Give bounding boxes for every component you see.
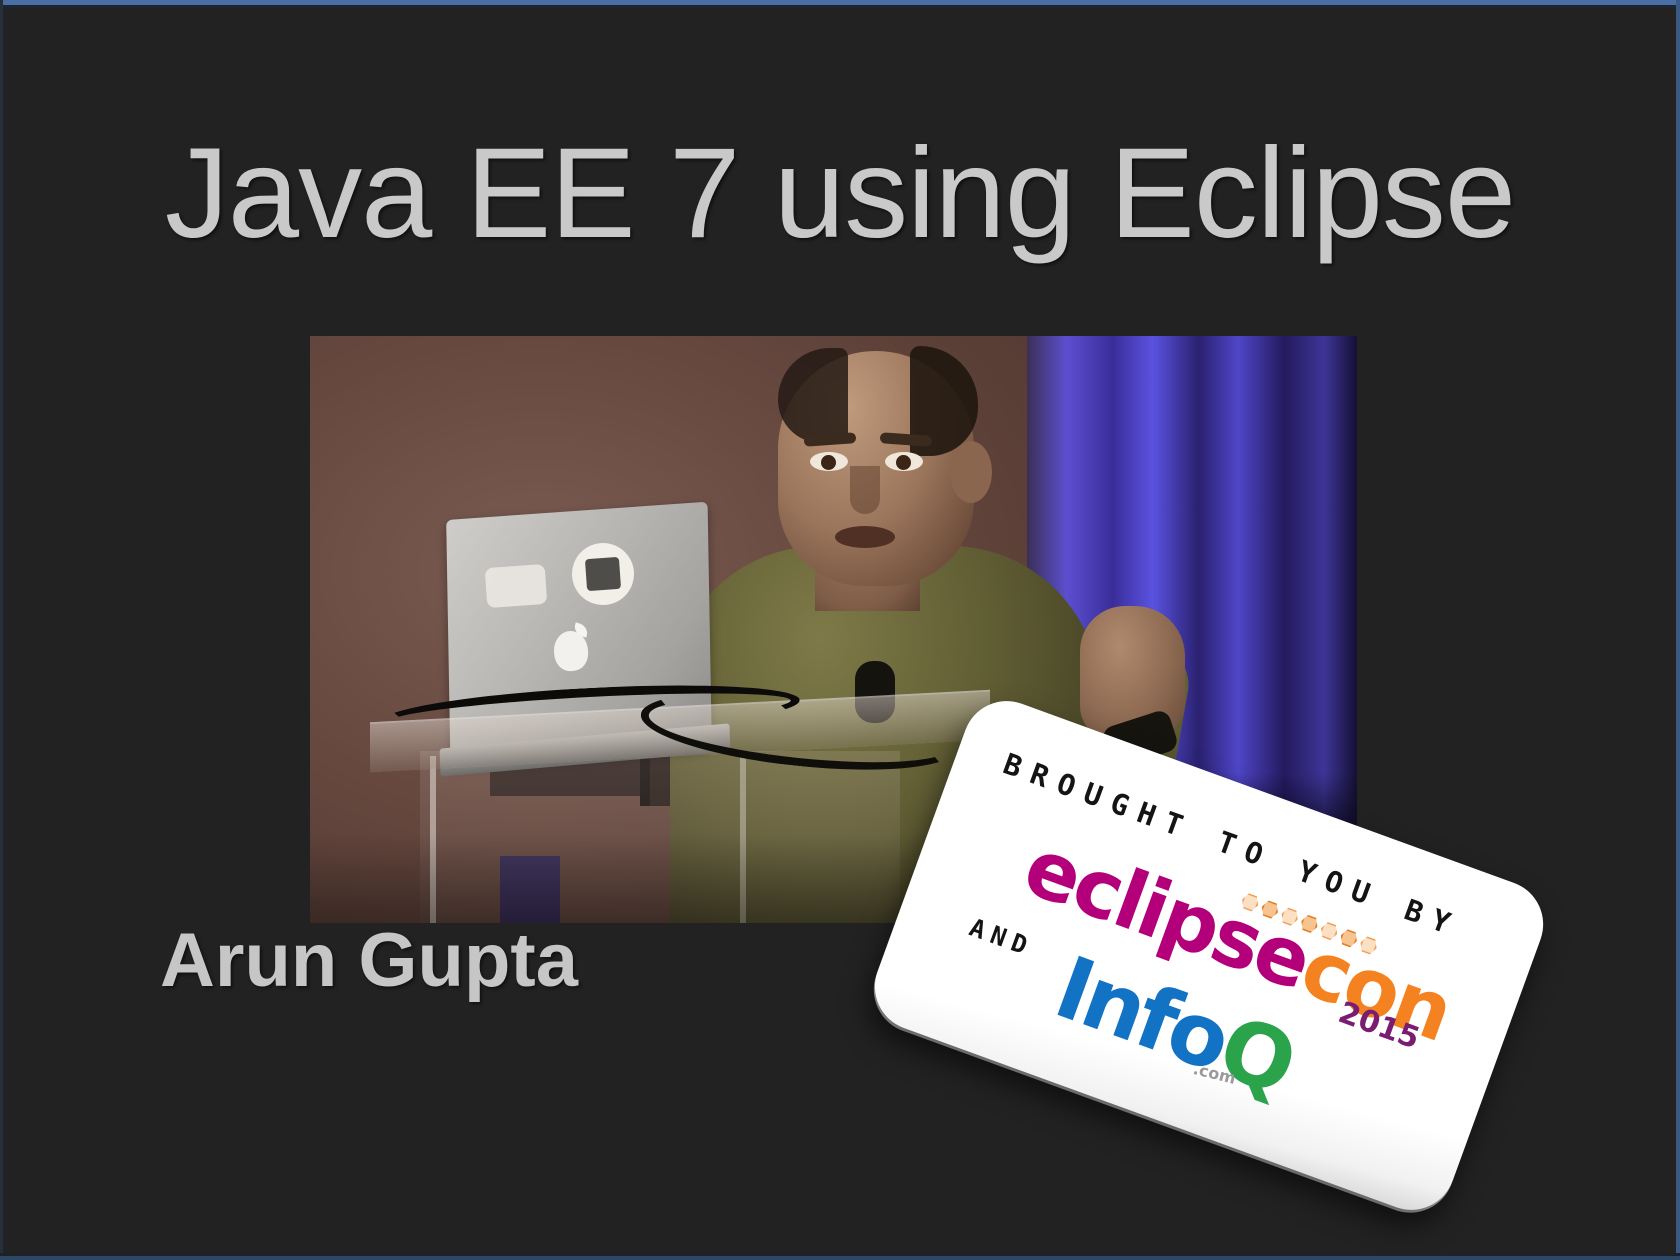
slide-title: Java EE 7 using Eclipse xyxy=(0,120,1680,267)
window-bottom-accent-bar xyxy=(0,1256,1680,1260)
photo-speaker-eye-right xyxy=(885,452,923,471)
presenter-name: Arun Gupta xyxy=(160,917,578,1004)
photo-laptop-sticker-round-inner xyxy=(585,557,621,591)
photo-laptop-sticker-square xyxy=(485,564,548,608)
photo-speaker-ear xyxy=(950,441,992,503)
presentation-slide: Java EE 7 using Eclipse xyxy=(0,0,1680,1260)
badge-and-label: AND xyxy=(966,913,1038,963)
photo-speaker-mouth xyxy=(835,526,895,548)
photo-speaker-eye-left xyxy=(810,452,848,471)
window-top-inner-bar xyxy=(0,5,1680,8)
photo-speaker-nose xyxy=(850,466,880,514)
